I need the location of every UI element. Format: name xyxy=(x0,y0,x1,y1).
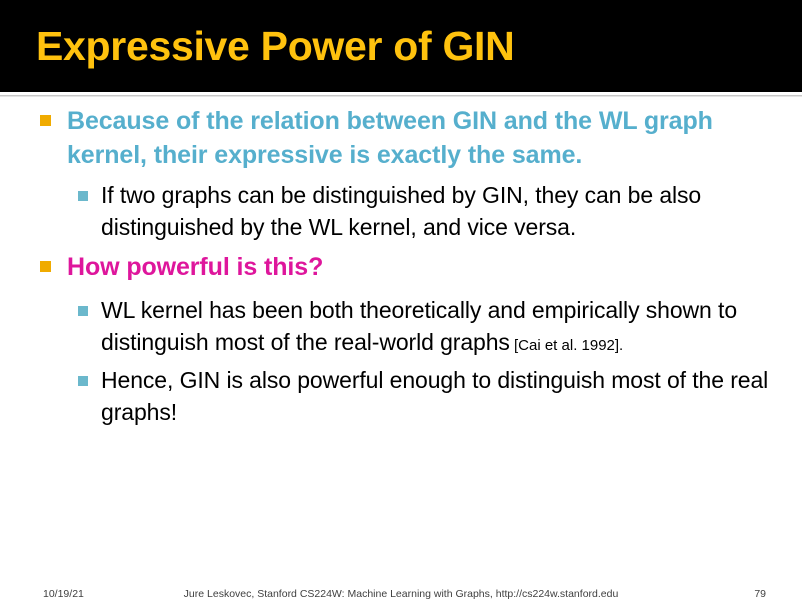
bullet-text-main: WL kernel has been both theoretically an… xyxy=(101,297,737,355)
square-bullet-icon xyxy=(78,191,88,201)
bullet-text: How powerful is this? xyxy=(67,250,784,284)
square-bullet-icon xyxy=(78,306,88,316)
slide-title-bar: Expressive Power of GIN xyxy=(0,0,802,92)
bullet-item-level2: If two graphs can be distinguished by GI… xyxy=(0,180,802,243)
bullet-text: Because of the relation between GIN and … xyxy=(67,104,784,172)
title-divider xyxy=(0,95,802,97)
bullet-item-level2: Hence, GIN is also powerful enough to di… xyxy=(0,365,802,428)
slide-footer: 10/19/21 Jure Leskovec, Stanford CS224W:… xyxy=(0,588,802,604)
footer-credit: Jure Leskovec, Stanford CS224W: Machine … xyxy=(0,588,802,600)
square-bullet-icon xyxy=(40,261,51,272)
square-bullet-icon xyxy=(40,115,51,126)
bullet-item-level2: WL kernel has been both theoretically an… xyxy=(0,295,802,358)
square-bullet-icon xyxy=(78,376,88,386)
bullet-text: If two graphs can be distinguished by GI… xyxy=(101,180,776,243)
citation-reference: [Cai et al. 1992]. xyxy=(510,337,623,354)
slide-title: Expressive Power of GIN xyxy=(36,26,514,67)
bullet-item-level1: How powerful is this? xyxy=(0,250,802,284)
footer-page-number: 79 xyxy=(754,588,766,600)
spacer xyxy=(0,286,802,295)
slide-body: Because of the relation between GIN and … xyxy=(0,104,802,429)
bullet-text: Hence, GIN is also powerful enough to di… xyxy=(101,365,776,428)
bullet-text: WL kernel has been both theoretically an… xyxy=(101,295,776,358)
bullet-item-level1: Because of the relation between GIN and … xyxy=(0,104,802,172)
slide: Expressive Power of GIN Because of the r… xyxy=(0,0,802,607)
